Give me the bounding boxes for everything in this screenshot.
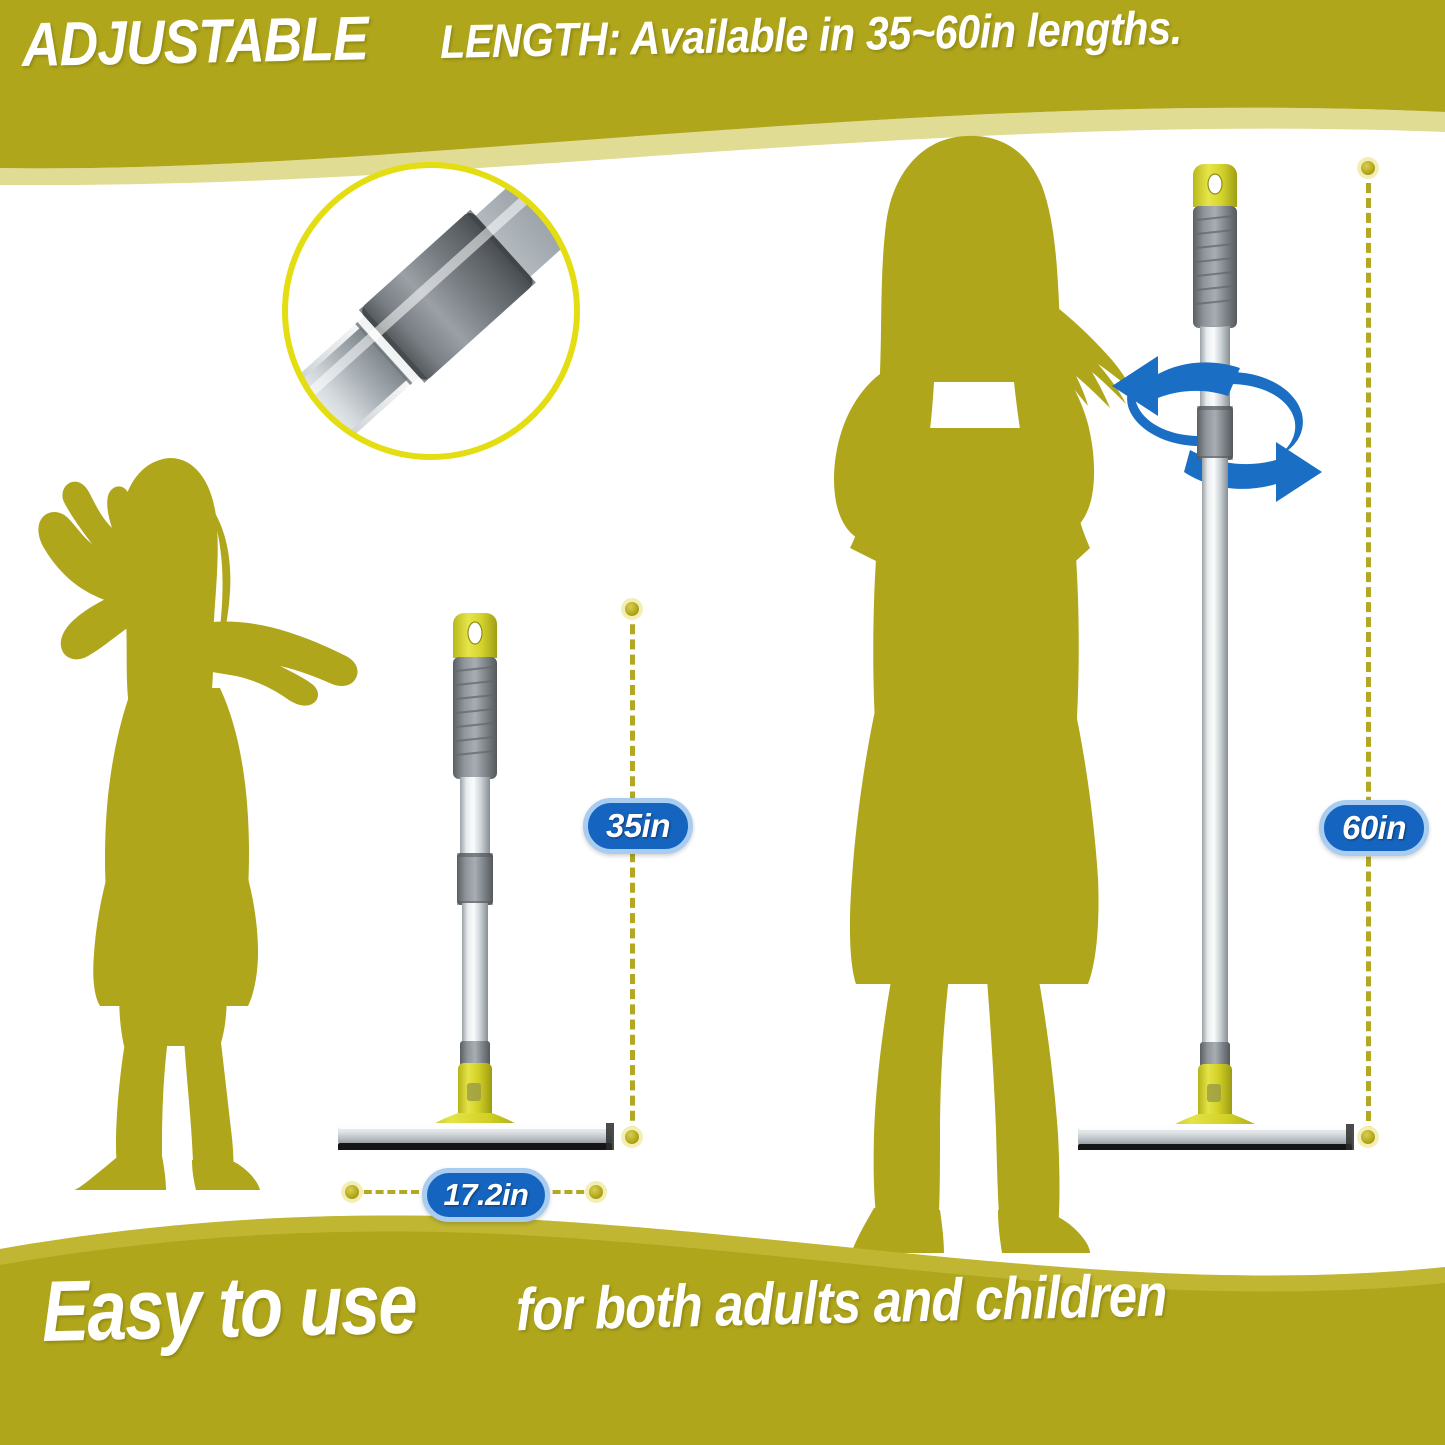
badge-60in: 60in [1319, 800, 1429, 856]
badge-17-2in: 17.2in [422, 1168, 550, 1222]
squeegee-blade [1078, 1124, 1354, 1150]
dimension-dot-17in-left [341, 1181, 363, 1203]
squeegee-short [330, 605, 620, 1150]
header-rest: LENGTH: Available in 35~60in lengths. [440, 0, 1183, 69]
bottom-banner: Easy to use for both adults and children [0, 1215, 1445, 1445]
telescoping-collar [457, 853, 493, 905]
handle-grip [453, 657, 497, 779]
telescoping-joint-closeup [278, 158, 584, 464]
dimension-dot-60in-top [1357, 157, 1379, 179]
child-silhouette [20, 440, 370, 1190]
handle-cap [1193, 164, 1237, 207]
squeegee-tall [1070, 158, 1360, 1150]
footer-rest: for both adults and children [515, 1260, 1167, 1344]
dimension-dot-35in-bottom [621, 1126, 643, 1148]
badge-35in: 35in [583, 798, 693, 854]
dimension-line-60in [1366, 168, 1371, 1136]
handle-grip [1193, 206, 1237, 328]
handle-cap [453, 613, 497, 658]
squeegee-blade [338, 1123, 614, 1150]
pole-lower [1202, 458, 1228, 1054]
infographic-canvas: ADJUSTABLE LENGTH: Available in 35~60in … [0, 0, 1445, 1445]
pole-lower [462, 903, 488, 1053]
dimension-dot-35in-top [621, 598, 643, 620]
footer-emphasis: Easy to use [41, 1255, 417, 1362]
telescoping-collar [1197, 406, 1233, 460]
header-emphasis: ADJUSTABLE [21, 3, 368, 81]
dimension-dot-17in-right [585, 1181, 607, 1203]
dimension-line-35in [630, 609, 635, 1136]
dimension-dot-60in-bottom [1357, 1126, 1379, 1148]
